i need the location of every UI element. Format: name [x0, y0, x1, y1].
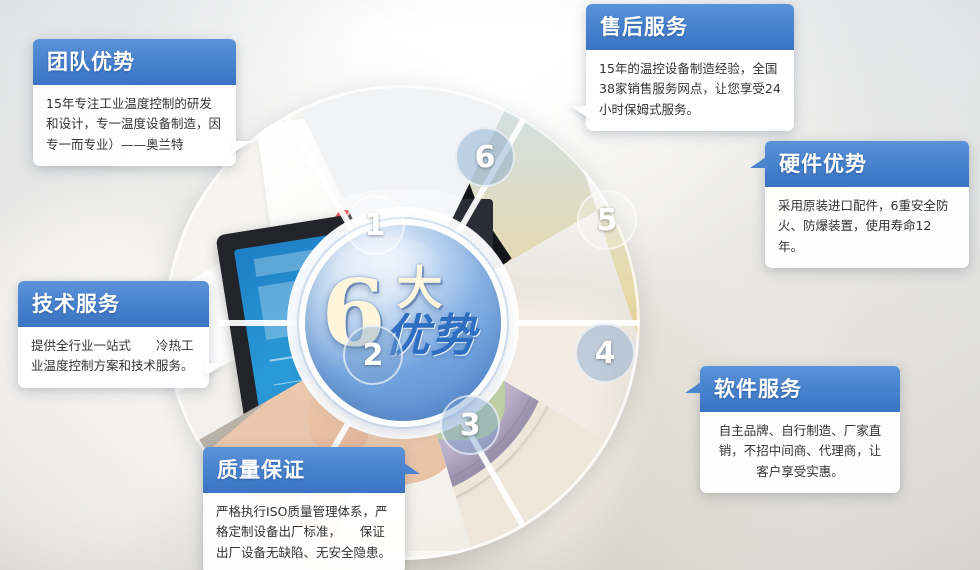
card-hardware-body: 采用原装进口配件，6重安全防火、防爆装置，使用寿命12年。 [765, 187, 969, 268]
card-technical-title: 技术服务 [18, 281, 209, 327]
segment-number-1-label: 1 [365, 208, 386, 243]
card-hardware[interactable]: 硬件优势 采用原装进口配件，6重安全防火、防爆装置，使用寿命12年。 [765, 141, 969, 268]
center-big-char: 大 [397, 265, 443, 311]
segment-number-4-label: 4 [595, 336, 616, 371]
card-team-body: 15年专注工业温度控制的研发和设计，专一温度设备制造，因专一而专业）——奥兰特 [33, 85, 236, 166]
segment-number-5-label: 5 [597, 203, 618, 238]
card-aftersales-body: 15年的温控设备制造经验，全国38家销售服务网点，让您享受24小时保姆式服务。 [586, 50, 794, 131]
card-team[interactable]: 团队优势 15年专注工业温度控制的研发和设计，专一温度设备制造，因专一而专业）—… [33, 39, 236, 166]
card-quality-body: 严格执行ISO质量管理体系，严格定制设备出厂标准， 保证出厂设备无缺陷、无安全隐… [203, 493, 405, 570]
card-software[interactable]: 软件服务 自主品牌、自行制造、厂家直销，不招中间商、代理商，让客户享受实惠。 [700, 366, 900, 493]
card-software-body: 自主品牌、自行制造、厂家直销，不招中间商、代理商，让客户享受实惠。 [700, 412, 900, 493]
card-hardware-title: 硬件优势 [765, 141, 969, 187]
card-software-title: 软件服务 [700, 366, 900, 412]
segment-number-5[interactable]: 5 [577, 190, 637, 250]
card-quality-pointer [401, 461, 420, 474]
card-aftersales[interactable]: 售后服务 15年的温控设备制造经验，全国38家销售服务网点，让您享受24小时保姆… [586, 4, 794, 131]
segment-number-2-label: 2 [363, 338, 384, 373]
segment-number-3-label: 3 [460, 408, 481, 443]
segment-number-6[interactable]: 6 [455, 127, 515, 187]
card-technical-body: 提供全行业一站式 冷热工业温度控制方案和技术服务。 [18, 327, 209, 388]
center-emblem: 6 大 优势 [305, 225, 501, 421]
infographic-canvas: 6 大 优势 1 2 3 4 5 6 团队优势 15年专注工业温度控制的研发和设… [0, 0, 980, 570]
card-team-pointer [232, 141, 252, 154]
segment-number-1[interactable]: 1 [345, 195, 405, 255]
card-team-title: 团队优势 [33, 39, 236, 85]
card-aftersales-pointer [570, 106, 590, 119]
card-quality-title: 质量保证 [203, 447, 405, 493]
card-technical-pointer [205, 363, 225, 376]
card-technical[interactable]: 技术服务 提供全行业一站式 冷热工业温度控制方案和技术服务。 [18, 281, 209, 388]
segment-number-3[interactable]: 3 [440, 395, 500, 455]
card-software-pointer [685, 380, 704, 393]
card-aftersales-title: 售后服务 [586, 4, 794, 50]
segment-number-4[interactable]: 4 [575, 323, 635, 383]
segment-number-2[interactable]: 2 [343, 325, 403, 385]
card-quality[interactable]: 质量保证 严格执行ISO质量管理体系，严格定制设备出厂标准， 保证出厂设备无缺陷… [203, 447, 405, 570]
card-hardware-pointer [750, 155, 769, 168]
segment-number-6-label: 6 [475, 140, 496, 175]
